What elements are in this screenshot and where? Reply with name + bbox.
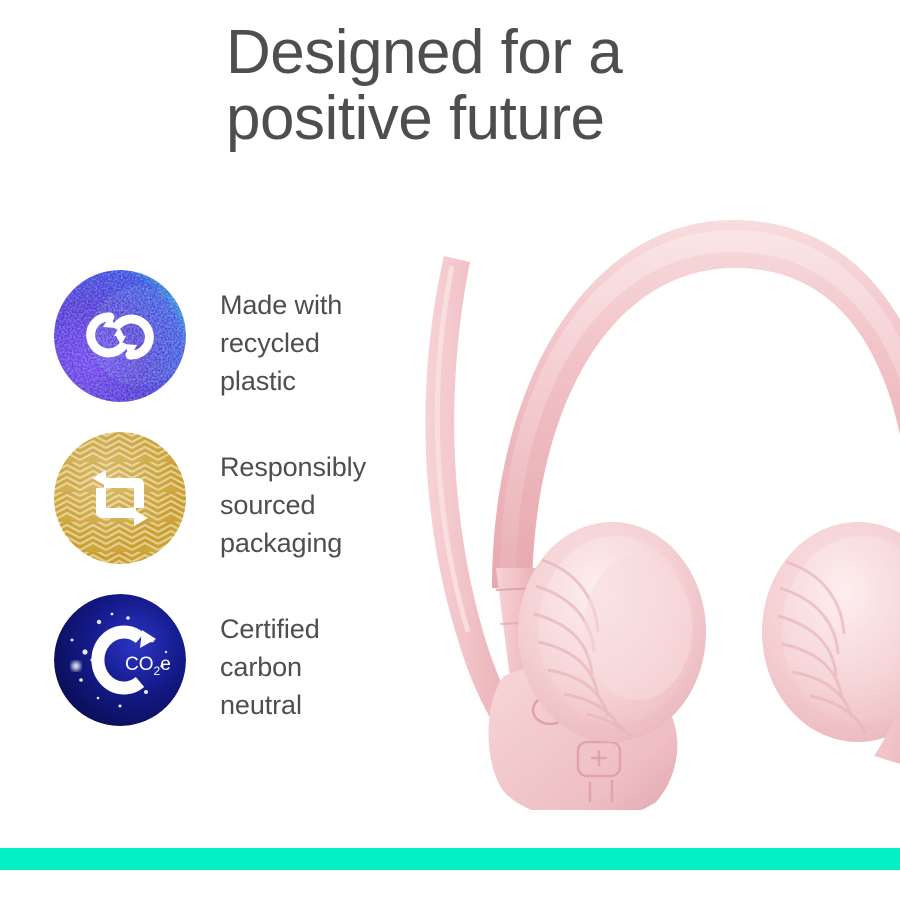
left-ear-cup-housing <box>488 664 677 810</box>
headband <box>492 220 900 590</box>
volume-up-button <box>578 742 620 776</box>
repeat-arrows-icon <box>54 432 186 564</box>
accent-bar <box>0 848 900 870</box>
feature-label-carbon-neutral: Certified carbon neutral <box>186 594 434 724</box>
boom-highlight <box>437 266 468 632</box>
feature-item-recycled-plastic: Made with recycled plastic <box>54 270 434 404</box>
volume-down-button <box>590 780 612 802</box>
carbon-badge-formula: CO2e <box>125 654 171 678</box>
feature-item-sourced-packaging: Responsibly sourced packaging <box>54 432 434 566</box>
feature-label-recycled-plastic: Made with recycled plastic <box>186 270 434 400</box>
right-ear-cup-housing <box>874 646 900 770</box>
left-yoke <box>496 568 550 694</box>
headband-highlight <box>500 230 900 572</box>
page-title: Designed for a positive future <box>226 20 766 152</box>
recycle-loop-icon <box>54 270 186 402</box>
volume-plus-glyph <box>591 750 607 766</box>
power-call-button <box>533 696 567 724</box>
feature-label-sourced-packaging: Responsibly sourced packaging <box>186 432 434 562</box>
sustainability-feature-list: Made with recycled plastic <box>54 270 434 756</box>
feature-item-carbon-neutral: CO2e Certified carbon neutral <box>54 594 434 728</box>
right-ear-cup <box>762 522 900 770</box>
left-cushion-ribs <box>534 560 638 744</box>
product-image-pink-headset <box>400 170 900 810</box>
product-feature-panel: Designed for a positive future <box>0 0 900 900</box>
right-cushion-ribs <box>778 562 866 734</box>
ear-cup-controls <box>533 696 650 810</box>
carbon-c-icon: CO2e <box>54 594 186 726</box>
microphone-boom-arm <box>425 256 540 760</box>
left-ear-cup <box>518 522 706 744</box>
